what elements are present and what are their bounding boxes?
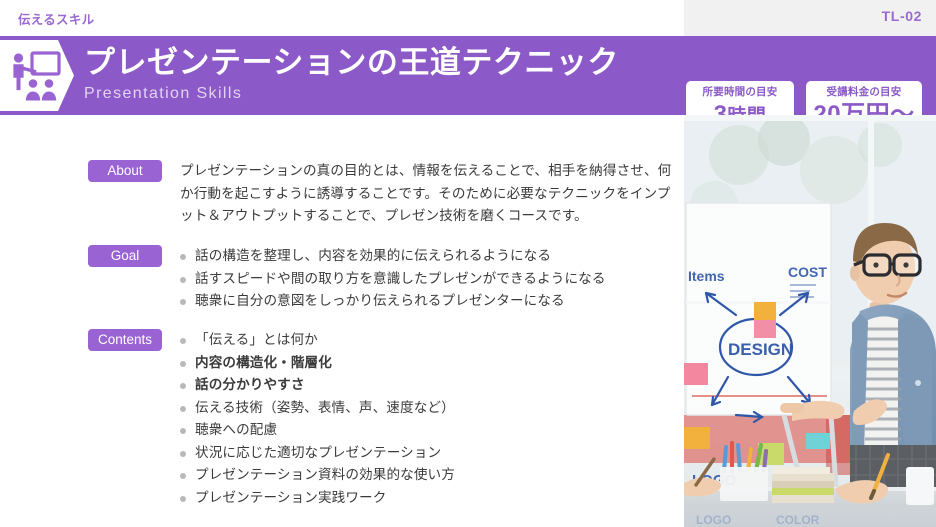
section-contents-label: Contents: [88, 329, 162, 351]
section-about-body: プレゼンテーションの真の目的とは、情報を伝えることで、相手を納得させ、何か行動を…: [180, 160, 684, 228]
contents-list-item: 状況に応じた適切なプレゼンテーション: [180, 442, 674, 465]
goal-list-item: 聴衆に自分の意図をしっかり伝えられるプレゼンターになる: [180, 290, 674, 313]
svg-text:LOGO: LOGO: [696, 513, 731, 527]
section-contents: Contents 「伝える」とは何か内容の構造化・階層化話の分かりやすさ伝える技…: [0, 329, 684, 509]
presenter-at-whiteboard-photo: Items COST DESIGN LOGO BUGS Colors: [684, 115, 936, 527]
course-detail-page: 伝えるスキル TL-02 プレゼンテーションの: [0, 0, 936, 527]
contents-list-item: 聴衆への配慮: [180, 419, 674, 442]
course-body: About プレゼンテーションの真の目的とは、情報を伝えることで、相手を納得させ…: [0, 115, 684, 527]
section-about-label: About: [88, 160, 162, 182]
top-strip: 伝えるスキル TL-02: [0, 0, 936, 36]
presentation-icon: [0, 40, 74, 111]
course-code: TL-02: [882, 8, 922, 24]
badge-price-label: 受講料金の目安: [806, 85, 922, 100]
section-about: About プレゼンテーションの真の目的とは、情報を伝えることで、相手を納得させ…: [0, 160, 684, 228]
section-contents-body: 「伝える」とは何か内容の構造化・階層化話の分かりやすさ伝える技術（姿勢、表情、声…: [180, 329, 684, 509]
svg-text:Items: Items: [688, 268, 725, 284]
svg-text:COLOR: COLOR: [776, 513, 820, 527]
breadcrumb[interactable]: 伝えるスキル: [18, 9, 94, 28]
contents-list-item: プレゼンテーション資料の効果的な使い方: [180, 464, 674, 487]
svg-text:DESIGN: DESIGN: [728, 340, 793, 359]
contents-list-item: 話の分かりやすさ: [180, 374, 674, 397]
section-about-paragraph: プレゼンテーションの真の目的とは、情報を伝えることで、相手を納得させ、何か行動を…: [180, 160, 674, 228]
course-title-block: プレゼンテーションの王道テクニック Presentation Skills: [84, 42, 619, 105]
contents-list-item: 「伝える」とは何か: [180, 329, 674, 352]
goal-list: 話の構造を整理し、内容を効果的に伝えられるようになる話すスピードや間の取り方を意…: [180, 245, 674, 313]
badge-duration-label: 所要時間の目安: [686, 85, 794, 100]
goal-list-item: 話すスピードや間の取り方を意識したプレゼンができるようになる: [180, 268, 674, 291]
course-header-band: プレゼンテーションの王道テクニック Presentation Skills 所要…: [0, 36, 936, 115]
goal-list-item: 話の構造を整理し、内容を効果的に伝えられるようになる: [180, 245, 674, 268]
contents-list-item: 内容の構造化・階層化: [180, 352, 674, 375]
page-title: プレゼンテーションの王道テクニック: [84, 42, 619, 84]
contents-list: 「伝える」とは何か内容の構造化・階層化話の分かりやすさ伝える技術（姿勢、表情、声…: [180, 329, 674, 509]
section-goal: Goal 話の構造を整理し、内容を効果的に伝えられるようになる話すスピードや間の…: [0, 245, 684, 313]
section-goal-body: 話の構造を整理し、内容を効果的に伝えられるようになる話すスピードや間の取り方を意…: [180, 245, 684, 313]
svg-text:COST: COST: [788, 264, 827, 280]
section-goal-label: Goal: [88, 245, 162, 267]
contents-list-item: プレゼンテーション実践ワーク: [180, 487, 674, 510]
contents-list-item: 伝える技術（姿勢、表情、声、速度など）: [180, 397, 674, 420]
page-subtitle: Presentation Skills: [84, 83, 619, 105]
